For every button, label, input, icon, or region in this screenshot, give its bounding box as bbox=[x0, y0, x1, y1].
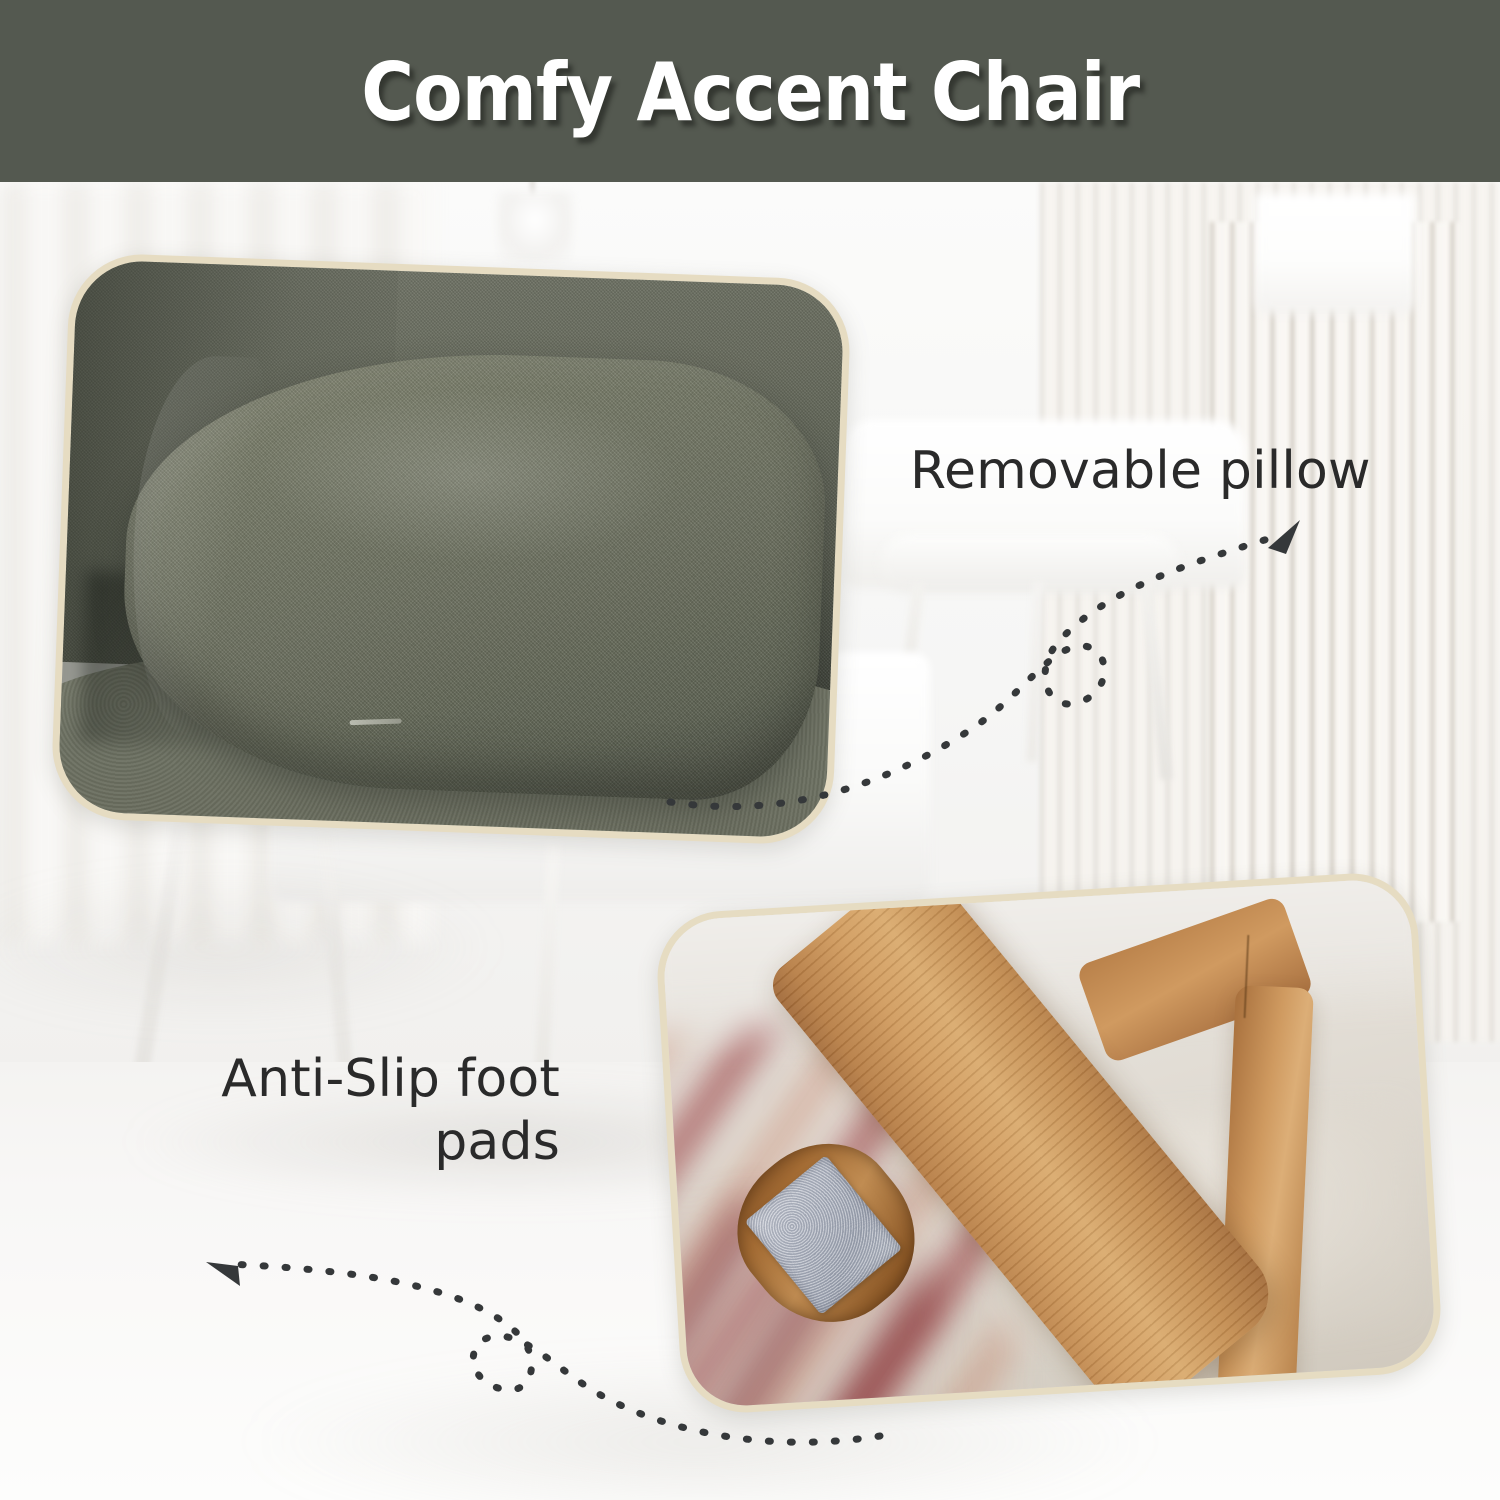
callout-label-removable-pillow: Removable pillow bbox=[910, 440, 1371, 503]
white-vase bbox=[1255, 194, 1415, 314]
callout-label-anti-slip-foot-pads: Anti-Slip foot pads bbox=[140, 1048, 560, 1175]
header-banner: Comfy Accent Chair bbox=[0, 0, 1500, 182]
pillow-detail-card bbox=[50, 252, 852, 846]
background-armchair-arm bbox=[880, 534, 1180, 592]
page-title: Comfy Accent Chair bbox=[361, 53, 1139, 133]
infographic-canvas: Comfy Accent Chair bbox=[0, 0, 1500, 1500]
foot-pad-detail-card bbox=[654, 870, 1444, 1416]
pillow-photo bbox=[50, 252, 852, 846]
fluted-wall-panel-inner bbox=[1210, 222, 1460, 922]
foot-pad-photo bbox=[654, 870, 1444, 1416]
pendant-lamp bbox=[498, 192, 572, 262]
